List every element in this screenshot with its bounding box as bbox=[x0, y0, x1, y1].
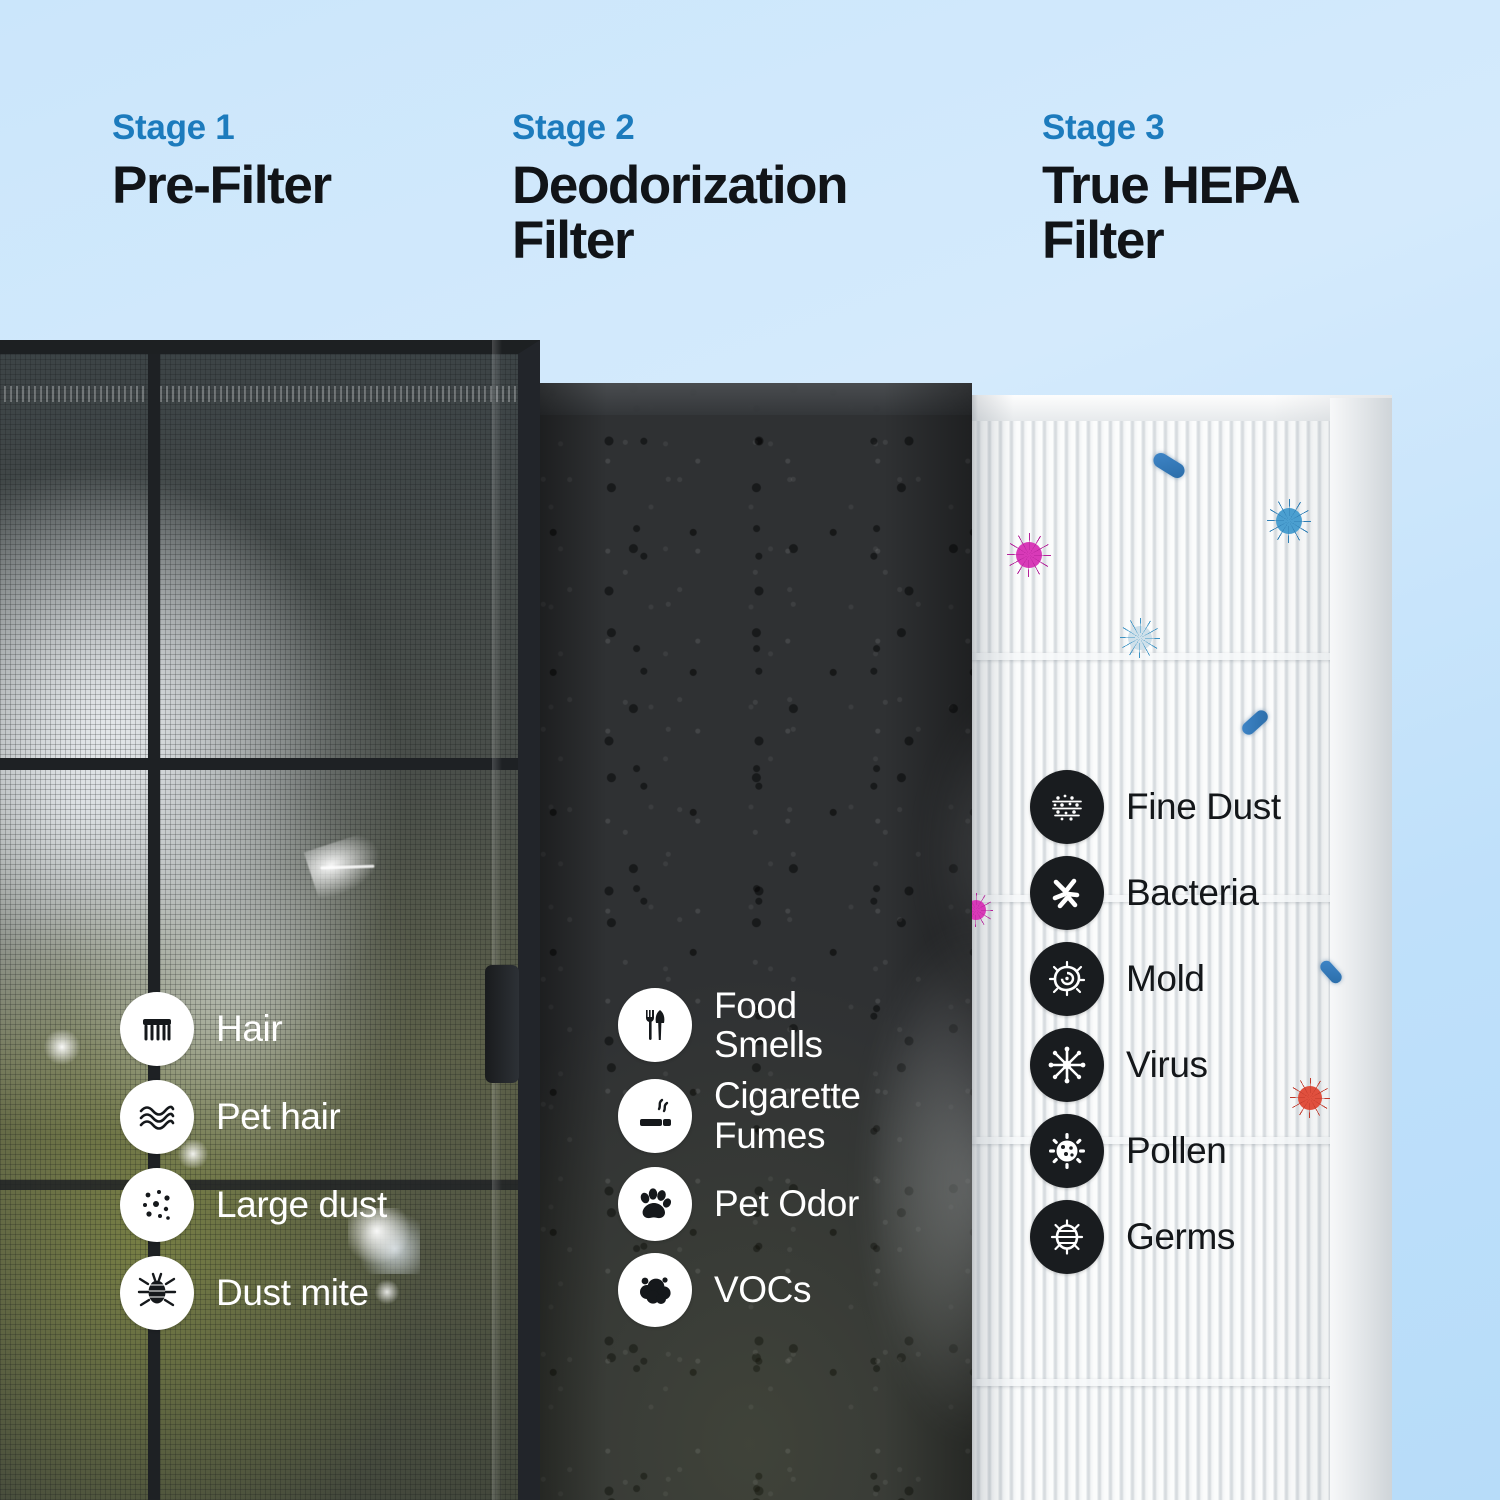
list-item: Pet Odor bbox=[618, 1167, 861, 1241]
list-item: Pollen bbox=[1030, 1114, 1281, 1188]
list-item-label: Germs bbox=[1126, 1217, 1235, 1256]
list-item: Virus bbox=[1030, 1028, 1281, 1102]
stage-2-title: Deodorization Filter bbox=[512, 159, 982, 268]
pet-hair-wave-icon bbox=[134, 1094, 180, 1140]
cigarette-icon-chip bbox=[618, 1079, 692, 1153]
pollen-particle bbox=[1298, 1086, 1322, 1110]
dust-mite-icon-chip bbox=[120, 1256, 194, 1330]
stage-2-kicker: Stage 2 bbox=[512, 110, 982, 145]
stage-1-kicker: Stage 1 bbox=[112, 110, 462, 145]
virus-icon bbox=[1044, 1042, 1090, 1088]
virus-particle bbox=[1276, 508, 1302, 534]
list-item-label: Virus bbox=[1126, 1045, 1208, 1084]
cigarette-icon bbox=[632, 1093, 678, 1139]
stage-3-heading: Stage 3 True HEPA Filter bbox=[1042, 110, 1422, 268]
list-item-label: Cigarette Fumes bbox=[714, 1076, 861, 1154]
paw-print-icon bbox=[632, 1181, 678, 1227]
stage-2-captured-list: Food Smells Cigarette Fumes bbox=[618, 986, 861, 1339]
bacteria-icon bbox=[1044, 870, 1090, 916]
list-item-label: Bacteria bbox=[1126, 873, 1259, 912]
pre-filter-handle[interactable] bbox=[485, 965, 519, 1083]
stage-1-heading: Stage 1 Pre-Filter bbox=[112, 110, 462, 214]
list-item-label: Pollen bbox=[1126, 1131, 1226, 1170]
dust-mite-icon bbox=[134, 1270, 180, 1316]
mold-icon-chip bbox=[1030, 942, 1104, 1016]
list-item-label: VOCs bbox=[714, 1270, 811, 1309]
stage-2-heading: Stage 2 Deodorization Filter bbox=[512, 110, 982, 268]
list-item-label: Dust mite bbox=[216, 1273, 369, 1312]
germs-icon-chip bbox=[1030, 1200, 1104, 1274]
pre-filter-edge-highlight bbox=[492, 340, 502, 1500]
stage-3-captured-list: Fine Dust Bacteria bbox=[1030, 770, 1281, 1286]
list-item-label: Fine Dust bbox=[1126, 787, 1281, 826]
pollen-icon-chip bbox=[1030, 1114, 1104, 1188]
bacteria-icon-chip bbox=[1030, 856, 1104, 930]
list-item: Germs bbox=[1030, 1200, 1281, 1274]
list-item: Dust mite bbox=[120, 1256, 387, 1330]
pollen-particle bbox=[1016, 542, 1042, 568]
list-item: Bacteria bbox=[1030, 856, 1281, 930]
paw-print-icon-chip bbox=[618, 1167, 692, 1241]
list-item: Hair bbox=[120, 992, 387, 1066]
list-item-label: Pet hair bbox=[216, 1097, 340, 1136]
stage-1-title: Pre-Filter bbox=[112, 159, 462, 214]
list-item-label: Pet Odor bbox=[714, 1184, 859, 1223]
list-item: Food Smells bbox=[618, 986, 861, 1064]
list-item-label: Hair bbox=[216, 1009, 282, 1048]
hepa-right-face bbox=[1330, 398, 1392, 1500]
vapor-cloud-icon bbox=[632, 1267, 678, 1313]
list-item: Mold bbox=[1030, 942, 1281, 1016]
fine-dust-icon bbox=[1044, 784, 1090, 830]
fork-knife-icon bbox=[632, 1002, 678, 1048]
stage-3-title: True HEPA Filter bbox=[1042, 159, 1422, 268]
list-item: VOCs bbox=[618, 1253, 861, 1327]
pollen-icon bbox=[1044, 1128, 1090, 1174]
vapor-cloud-icon-chip bbox=[618, 1253, 692, 1327]
comb-icon bbox=[135, 1007, 179, 1051]
virus-icon-chip bbox=[1030, 1028, 1104, 1102]
pet-hair-wave-icon-chip bbox=[120, 1080, 194, 1154]
list-item: Large dust bbox=[120, 1168, 387, 1242]
fork-knife-icon-chip bbox=[618, 988, 692, 1062]
virus-particle bbox=[1128, 626, 1152, 650]
list-item: Fine Dust bbox=[1030, 770, 1281, 844]
list-item: Cigarette Fumes bbox=[618, 1076, 861, 1154]
mold-icon bbox=[1044, 956, 1090, 1002]
stage-headings: Stage 1 Pre-Filter Stage 2 Deodorization… bbox=[0, 0, 1500, 330]
stage-1-captured-list: Hair Pet hair bbox=[120, 992, 387, 1344]
fine-dust-icon-chip bbox=[1030, 770, 1104, 844]
list-item-label: Mold bbox=[1126, 959, 1205, 998]
large-dust-dots-icon-chip bbox=[120, 1168, 194, 1242]
germs-icon bbox=[1044, 1214, 1090, 1260]
list-item: Pet hair bbox=[120, 1080, 387, 1154]
list-item-label: Large dust bbox=[216, 1185, 387, 1224]
comb-icon-chip bbox=[120, 992, 194, 1066]
stage-3-kicker: Stage 3 bbox=[1042, 110, 1422, 145]
large-dust-dots-icon bbox=[134, 1182, 180, 1228]
list-item-label: Food Smells bbox=[714, 986, 823, 1064]
